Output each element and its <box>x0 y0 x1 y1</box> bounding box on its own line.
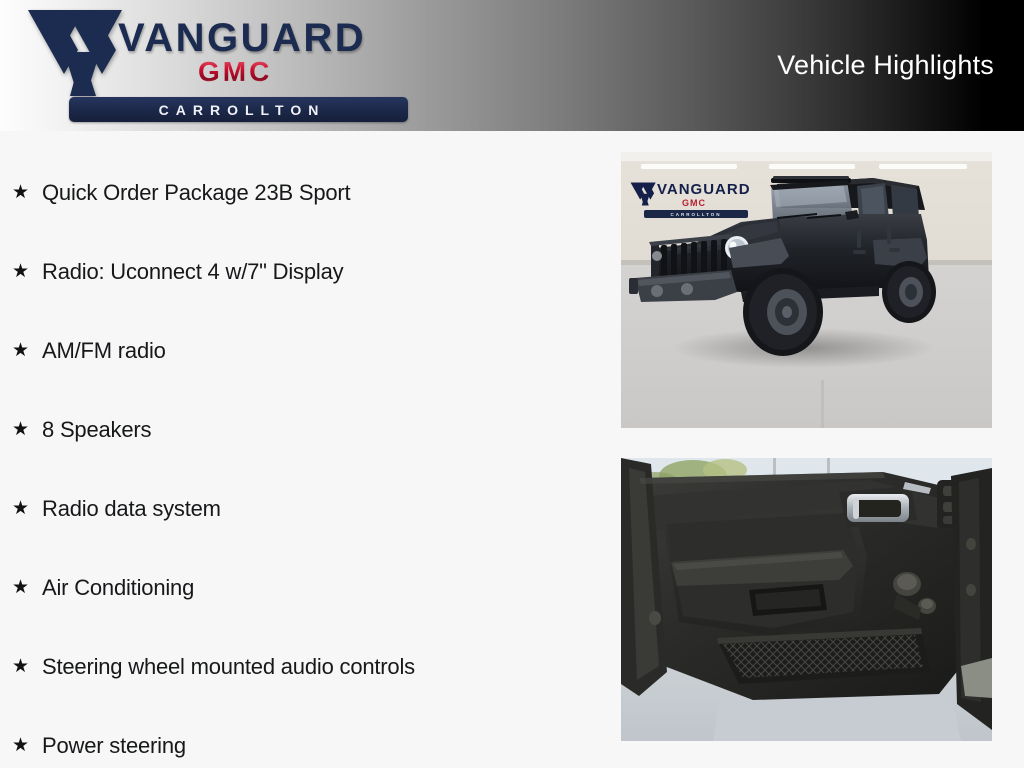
star-icon: ★ <box>12 578 42 597</box>
list-item: ★ 8 Speakers <box>0 390 600 469</box>
dealer-wordmark: VANGUARD <box>118 18 366 58</box>
list-item-label: Radio data system <box>42 496 221 522</box>
star-icon: ★ <box>12 262 42 281</box>
list-item: ★ AM/FM radio <box>0 311 600 390</box>
list-item: ★ Air Conditioning <box>0 548 600 627</box>
dealer-city-bar: CARROLLTON <box>69 97 408 122</box>
exterior-photo[interactable]: VANGUARD GMC CARROLLTON <box>621 152 992 428</box>
dealer-logo: VANGUARD GMC CARROLLTON <box>26 6 406 126</box>
interior-door-photo-image <box>621 458 992 741</box>
gmc-brandmark: GMC <box>198 58 272 86</box>
star-icon: ★ <box>12 499 42 518</box>
list-item: ★ Quick Order Package 23B Sport <box>0 153 600 232</box>
list-item-label: 8 Speakers <box>42 417 151 443</box>
list-item: ★ Steering wheel mounted audio controls <box>0 627 600 706</box>
star-icon: ★ <box>12 183 42 202</box>
list-item-label: AM/FM radio <box>42 338 166 364</box>
star-icon: ★ <box>12 736 42 755</box>
interior-door-photo[interactable] <box>621 458 992 741</box>
page-title: Vehicle Highlights <box>777 0 994 131</box>
star-icon: ★ <box>12 420 42 439</box>
list-item-label: Radio: Uconnect 4 w/7" Display <box>42 259 343 285</box>
list-item-label: Quick Order Package 23B Sport <box>42 180 350 206</box>
list-item-label: Power steering <box>42 733 186 759</box>
list-item: ★ Radio data system <box>0 469 600 548</box>
list-item: ★ Power steering <box>0 706 600 768</box>
list-item-label: Steering wheel mounted audio controls <box>42 654 415 680</box>
showroom-wordmark: VANGUARD <box>657 182 751 197</box>
vehicle-feature-list: ★ Quick Order Package 23B Sport ★ Radio:… <box>0 131 600 768</box>
showroom-city-bar: CARROLLTON <box>644 210 748 218</box>
list-item-label: Air Conditioning <box>42 575 194 601</box>
vehicle-highlights-slide: Vehicle Highlights VANGUARD GMC CARROLLT… <box>0 0 1024 768</box>
star-icon: ★ <box>12 657 42 676</box>
showroom-gmc-brandmark: GMC <box>682 199 706 208</box>
showroom-city-label: CARROLLTON <box>670 212 721 217</box>
vanguard-double-chevron-icon <box>630 181 660 207</box>
star-icon: ★ <box>12 341 42 360</box>
dealer-city-label: CARROLLTON <box>152 102 326 118</box>
showroom-wall-logo: VANGUARD GMC CARROLLTON <box>630 179 748 221</box>
list-item: ★ Radio: Uconnect 4 w/7" Display <box>0 232 600 311</box>
